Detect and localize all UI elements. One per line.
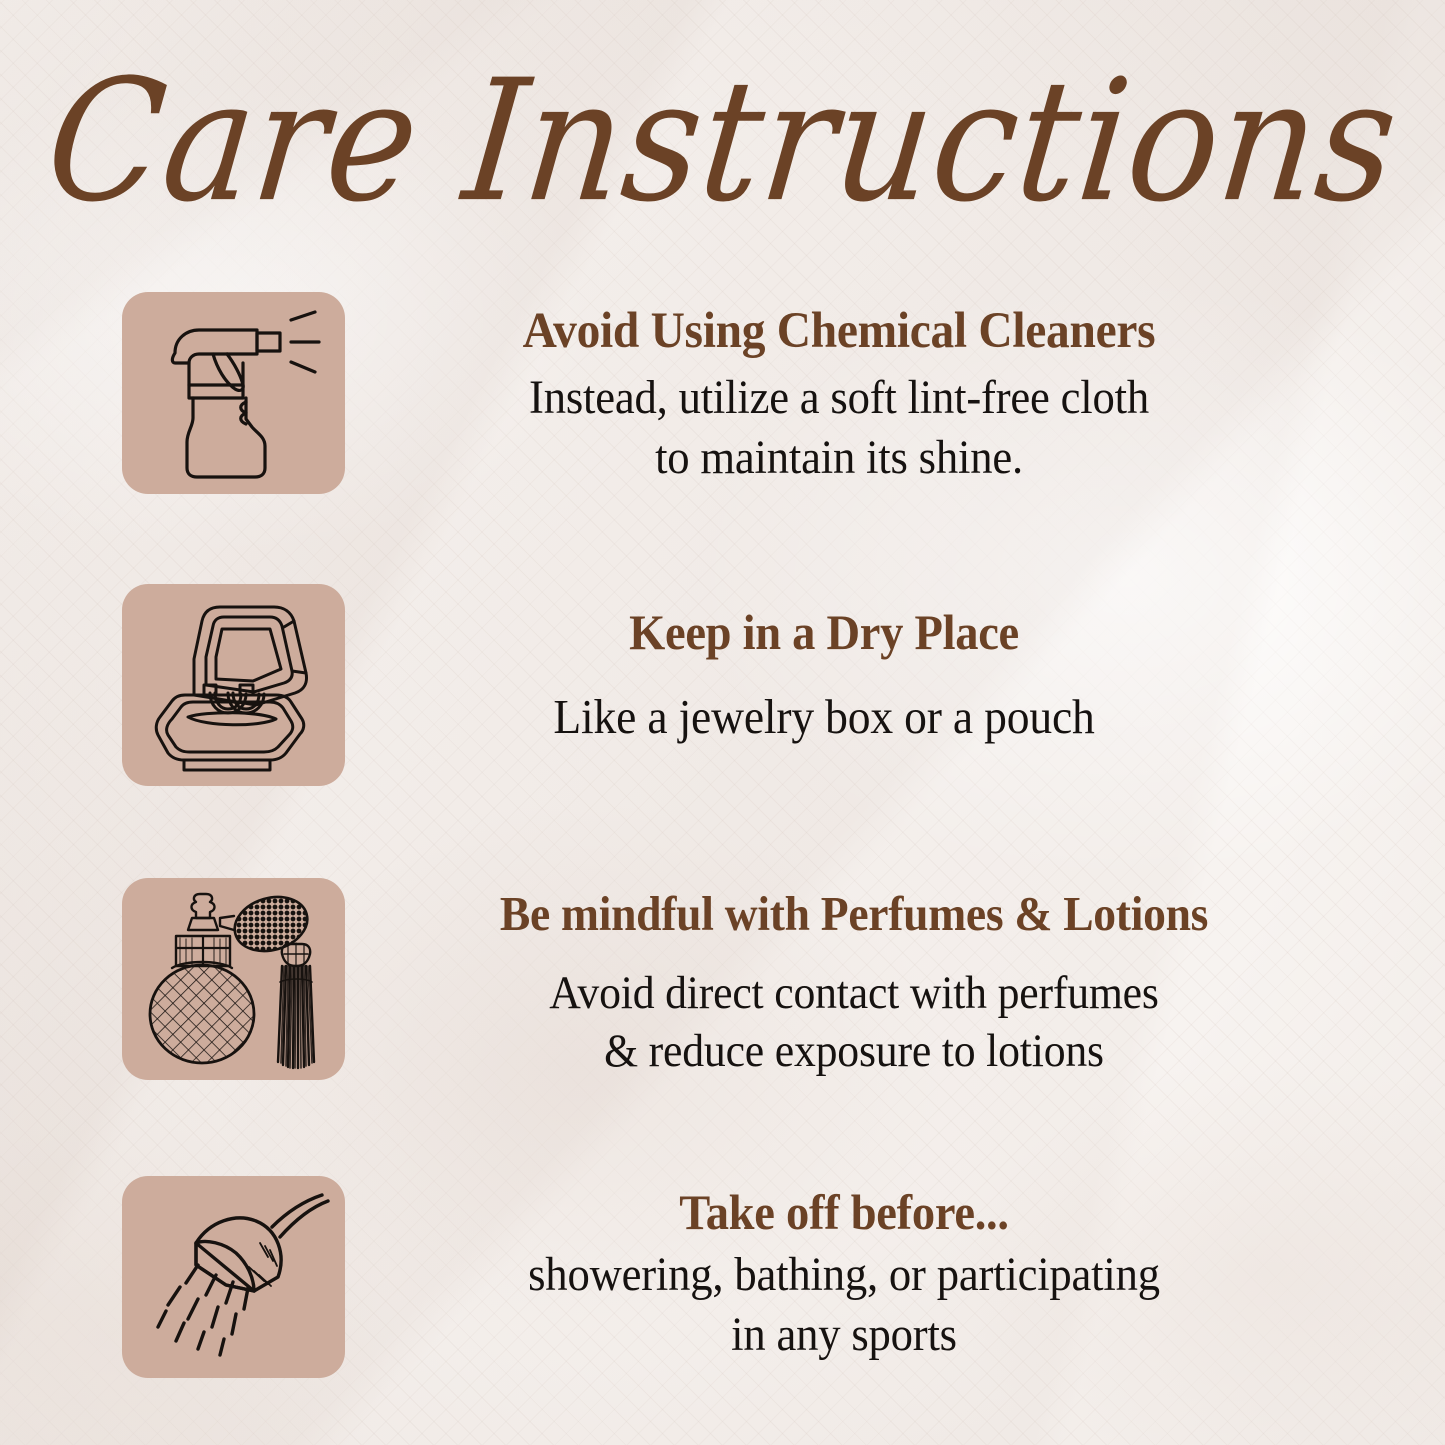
instruction-body-line: Avoid direct contact with perfumes bbox=[407, 964, 1302, 1022]
instruction-body: showering, bathing, or participating in … bbox=[406, 1245, 1282, 1364]
instruction-body-line: in any sports bbox=[406, 1305, 1282, 1365]
instruction-body-line: showering, bathing, or participating bbox=[406, 1245, 1282, 1305]
icon-tile-perfume bbox=[122, 878, 345, 1080]
instruction-text-block: Keep in a Dry Place Like a jewelry box o… bbox=[345, 584, 1445, 748]
instruction-body-line: Like a jewelry box or a pouch bbox=[405, 687, 1244, 748]
instruction-heading: Avoid Using Chemical Cleaners bbox=[406, 302, 1273, 360]
icon-tile-shower bbox=[122, 1176, 345, 1378]
list-item: Avoid Using Chemical Cleaners Instead, u… bbox=[0, 292, 1445, 584]
jewelry-ring-box-icon bbox=[136, 595, 332, 775]
spray-bottle-icon bbox=[139, 306, 329, 481]
instruction-text-block: Avoid Using Chemical Cleaners Instead, u… bbox=[345, 292, 1445, 487]
instruction-body-line: & reduce exposure to lotions bbox=[407, 1022, 1302, 1080]
icon-tile-spray-bottle bbox=[122, 292, 345, 494]
instruction-body: Like a jewelry box or a pouch bbox=[405, 687, 1244, 748]
instruction-body-line: Instead, utilize a soft lint-free cloth bbox=[406, 368, 1273, 428]
instruction-body-line: to maintain its shine. bbox=[406, 428, 1273, 488]
page-title: Care Instructions bbox=[38, 34, 1408, 249]
instruction-list: Avoid Using Chemical Cleaners Instead, u… bbox=[0, 292, 1445, 1436]
icon-tile-jewelry-box bbox=[122, 584, 345, 786]
page-title-wrap: Care Instructions bbox=[0, 46, 1445, 238]
list-item: Be mindful with Perfumes & Lotions Avoid… bbox=[0, 878, 1445, 1176]
instruction-text-block: Take off before... showering, bathing, o… bbox=[345, 1176, 1445, 1364]
instruction-heading: Be mindful with Perfumes & Lotions bbox=[407, 886, 1302, 942]
shower-head-icon bbox=[136, 1187, 332, 1367]
instruction-heading: Keep in a Dry Place bbox=[405, 604, 1244, 661]
list-item: Take off before... showering, bathing, o… bbox=[0, 1176, 1445, 1436]
care-instructions-card: Care Instructions bbox=[0, 0, 1445, 1445]
perfume-bottle-icon bbox=[134, 886, 334, 1072]
instruction-heading: Take off before... bbox=[406, 1184, 1282, 1241]
instruction-body: Avoid direct contact with perfumes & red… bbox=[407, 964, 1302, 1081]
list-item: Keep in a Dry Place Like a jewelry box o… bbox=[0, 584, 1445, 878]
instruction-body: Instead, utilize a soft lint-free cloth … bbox=[406, 368, 1273, 487]
instruction-text-block: Be mindful with Perfumes & Lotions Avoid… bbox=[345, 878, 1445, 1080]
